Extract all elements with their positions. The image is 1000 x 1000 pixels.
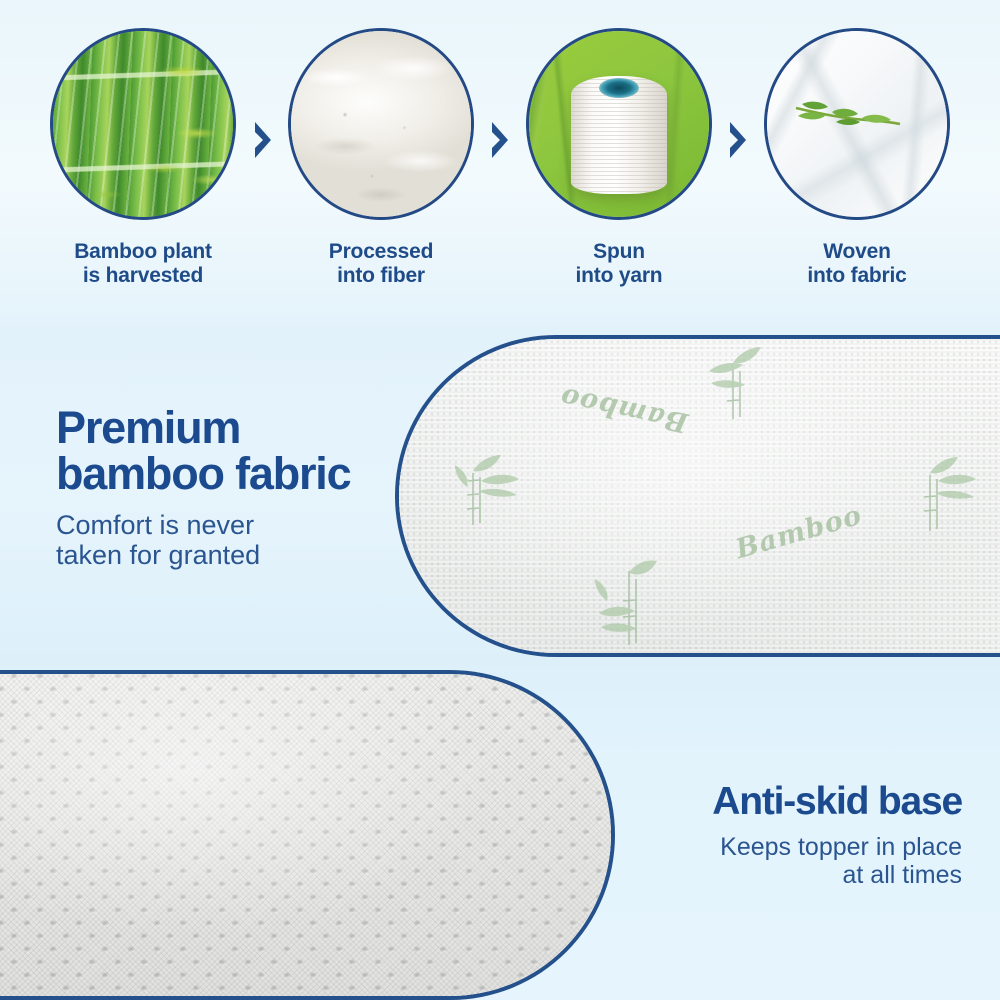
bamboo-stalk-motif (587, 557, 667, 649)
caption-line: into yarn (526, 264, 712, 288)
process-step-2-caption: Processed into fiber (288, 240, 474, 288)
anti-skid-dotted-base-closeup (0, 670, 615, 1000)
caption-line: Spun (526, 240, 712, 264)
headline-line: Premium (56, 405, 386, 451)
process-step-2: Processed into fiber (288, 28, 474, 288)
bamboo-grove-photo (50, 28, 236, 220)
process-step-4: Woven into fabric (764, 28, 950, 288)
headline-line: bamboo fabric (56, 451, 386, 497)
bamboo-stalk-motif (904, 451, 978, 537)
caption-line: into fabric (764, 264, 950, 288)
bamboo-process-section: Bamboo plant is harvested Processed into… (0, 0, 1000, 320)
skid-headline: Anti-skid base (532, 782, 962, 822)
fabric-subline: Comfort is never taken for granted (56, 510, 386, 570)
chevron-right-icon (489, 120, 511, 160)
chevron-right-icon (727, 120, 749, 160)
raw-fiber-photo (288, 28, 474, 220)
chevron-right-icon (252, 120, 274, 160)
process-step-3-caption: Spun into yarn (526, 240, 712, 288)
anti-skid-base-copy: Anti-skid base Keeps topper in place at … (532, 782, 962, 889)
caption-line: into fiber (288, 264, 474, 288)
bamboo-sprig-icon (792, 98, 904, 132)
bamboo-stalk-motif (451, 447, 525, 531)
yarn-cone-photo (526, 28, 712, 220)
process-step-3: Spun into yarn (526, 28, 712, 288)
bamboo-stalk-motif (699, 345, 769, 425)
subline-line: taken for granted (56, 540, 386, 570)
caption-line: Processed (288, 240, 474, 264)
process-step-1: Bamboo plant is harvested (50, 28, 236, 288)
process-step-4-caption: Woven into fabric (764, 240, 950, 288)
woven-fabric-photo (764, 28, 950, 220)
skid-subline: Keeps topper in place at all times (532, 833, 962, 889)
subline-line: Comfort is never (56, 510, 386, 540)
process-step-1-caption: Bamboo plant is harvested (50, 240, 236, 288)
caption-line: is harvested (50, 264, 236, 288)
subline-line: at all times (532, 861, 962, 889)
subline-line: Keeps topper in place (532, 833, 962, 861)
caption-line: Bamboo plant (50, 240, 236, 264)
caption-line: Woven (764, 240, 950, 264)
premium-bamboo-fabric-copy: Premium bamboo fabric Comfort is never t… (56, 405, 386, 570)
bamboo-fabric-closeup: Bamboo Bamboo (395, 335, 1000, 657)
infographic-canvas: Bamboo plant is harvested Processed into… (0, 0, 1000, 1000)
fabric-headline: Premium bamboo fabric (56, 405, 386, 497)
